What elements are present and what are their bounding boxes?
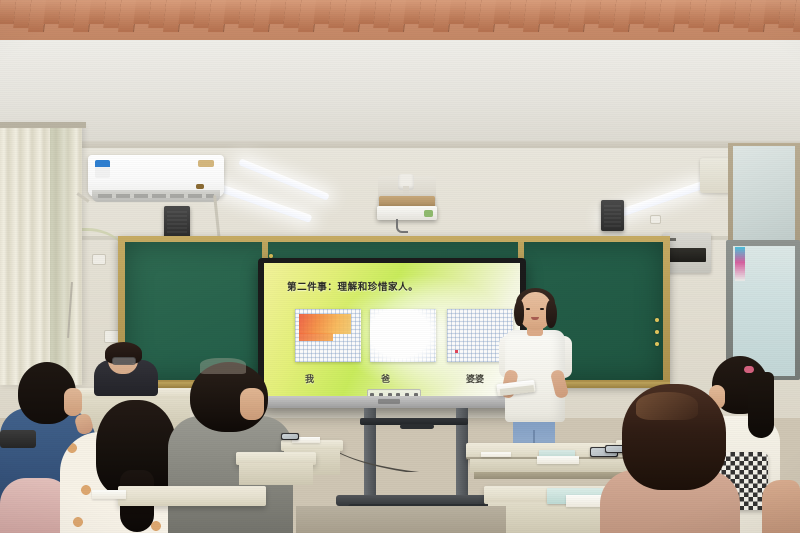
- wall-outlet-right: [650, 215, 661, 224]
- seated-person-gray-shirt-ear: [240, 388, 264, 420]
- phone-left-desk: [281, 433, 299, 440]
- paper-sheet-on-desk: [481, 452, 511, 457]
- slide-title: 第二件事：理解和珍惜家人。: [287, 279, 487, 293]
- presenter-hair-side-right: [546, 300, 557, 328]
- board-magnet-icon: [655, 342, 659, 346]
- orange-heatmap-block: [299, 314, 351, 334]
- curtain-fold: [50, 125, 76, 385]
- presenter-eye-right: [540, 308, 544, 310]
- slide-label-me: 我: [305, 372, 314, 385]
- presenter-hair-side-left: [514, 300, 524, 326]
- seated-person-blue-shirt-ear-cheek: [64, 388, 82, 416]
- board-magnet-icon: [655, 318, 659, 322]
- cabinet-color-strip: [735, 247, 745, 281]
- orange-heatmap-block-lower: [299, 333, 333, 341]
- presenter-eye-left: [526, 308, 530, 310]
- left-wall-speaker: [164, 206, 190, 238]
- slide-image-2: [370, 309, 436, 362]
- projector-glare: [370, 309, 436, 362]
- desk-left-mid-front: [239, 463, 313, 485]
- floor-equipment-box: [0, 430, 36, 448]
- papers-on-desk: [537, 456, 579, 464]
- ceiling-soffit: [0, 40, 800, 150]
- slide-label-grandma: 婆婆: [466, 372, 484, 385]
- energy-label-icon: [95, 160, 110, 178]
- projector-lens-icon: [424, 210, 433, 217]
- curtain-rod: [0, 122, 86, 128]
- classroom-photo: 第二件事：理解和珍惜家人。 我 爸 婆婆: [0, 0, 800, 533]
- paper-left-front: [92, 490, 126, 499]
- right-wall-speaker: [601, 200, 624, 231]
- hair-tie-icon: [744, 366, 754, 373]
- board-magnet-icon: [655, 330, 659, 334]
- slide-image-1: [295, 309, 361, 362]
- desk-right-shelf: [474, 472, 634, 479]
- desk-left-front-top: [118, 486, 266, 506]
- air-conditioner-logo: [198, 160, 214, 167]
- seated-person-white-top-ponytail: [748, 372, 774, 438]
- hair-highlight-right: [636, 392, 698, 420]
- wall-outlet-upper: [92, 254, 106, 265]
- hair-highlight: [200, 358, 246, 374]
- projector-cable: [396, 219, 408, 233]
- wall-panel-display: [668, 248, 706, 262]
- air-conditioner-vent: [92, 190, 220, 202]
- classroom-floor: [296, 506, 506, 533]
- air-conditioner-sensor-icon: [196, 184, 204, 189]
- whiteboard-brand-logo: [378, 399, 400, 404]
- glasses-icon: [112, 357, 136, 365]
- red-mark-icon: [455, 350, 458, 353]
- slide-label-dad: 爸: [381, 372, 390, 385]
- seated-person-edge-right: [762, 480, 800, 533]
